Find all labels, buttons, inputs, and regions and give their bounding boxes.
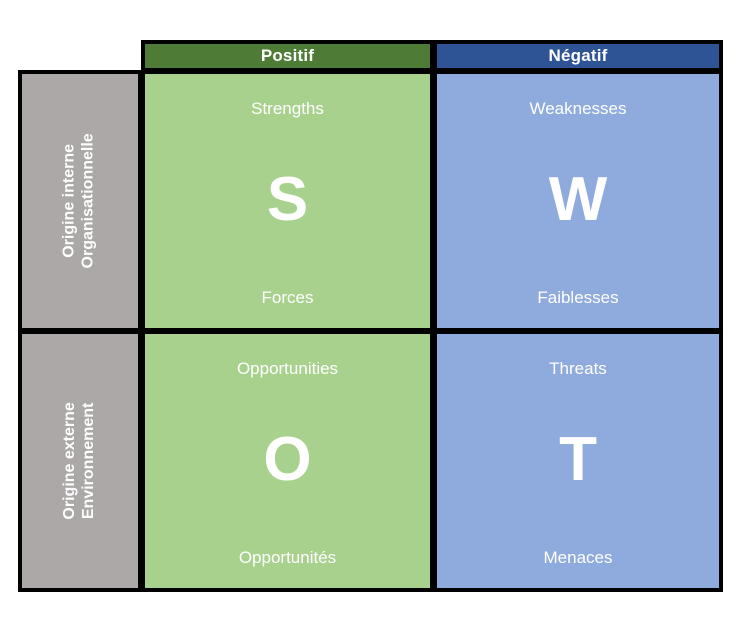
quadrant-weaknesses-subtitle: Faiblesses — [537, 289, 618, 306]
quadrant-opportunities-subtitle: Opportunités — [239, 549, 336, 566]
row-label-interne-line2: Organisationnelle — [80, 133, 99, 268]
column-header-negatif: Négatif — [433, 40, 723, 72]
row-label-interne-line1: Origine interne — [61, 133, 80, 268]
row-label-externe-line1: Origine externe — [61, 402, 80, 519]
quadrant-strengths-subtitle: Forces — [262, 289, 314, 306]
quadrant-strengths-title: Strengths — [251, 100, 324, 117]
quadrant-threats-subtitle: Menaces — [544, 549, 613, 566]
row-label-externe-text: Origine externe Environnement — [61, 402, 99, 519]
row-label-externe-line2: Environnement — [80, 402, 99, 519]
column-header-negatif-label: Négatif — [548, 46, 607, 66]
quadrant-threats-title: Threats — [549, 360, 607, 377]
row-label-interne-text: Origine interne Organisationnelle — [61, 133, 99, 268]
quadrant-weaknesses-title: Weaknesses — [529, 100, 626, 117]
quadrant-weaknesses-letter: W — [549, 169, 608, 231]
row-label-origine-interne: Origine interne Organisationnelle — [18, 70, 142, 332]
quadrant-opportunities-letter: O — [263, 429, 311, 491]
swot-matrix: Positif Négatif Origine interne Organisa… — [0, 0, 750, 624]
row-label-origine-externe: Origine externe Environnement — [18, 330, 142, 592]
column-header-positif: Positif — [141, 40, 434, 72]
quadrant-strengths-letter: S — [267, 169, 308, 231]
quadrant-weaknesses: Weaknesses W Faiblesses — [433, 70, 723, 332]
column-header-positif-label: Positif — [261, 46, 314, 66]
quadrant-opportunities-title: Opportunities — [237, 360, 338, 377]
quadrant-threats-letter: T — [559, 429, 597, 491]
quadrant-opportunities: Opportunities O Opportunités — [141, 330, 434, 592]
quadrant-threats: Threats T Menaces — [433, 330, 723, 592]
quadrant-strengths: Strengths S Forces — [141, 70, 434, 332]
